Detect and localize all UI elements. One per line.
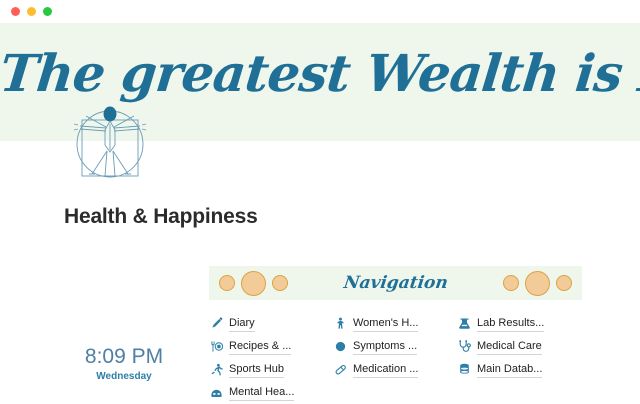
nav-item-label: Main Datab... <box>477 362 542 378</box>
vitruvian-man-icon <box>62 100 158 182</box>
navigation-card: Navigation Diary Recipes & ... <box>209 266 582 404</box>
close-window-button[interactable] <box>11 7 20 16</box>
nav-item-womens-health[interactable]: Women's H... <box>333 312 457 335</box>
nav-item-label: Mental Hea... <box>229 385 294 401</box>
nav-item-mental-health[interactable]: Mental Hea... <box>209 381 333 404</box>
navigation-column: Diary Recipes & ... Sports Hub Mental He… <box>209 312 333 404</box>
pencil-icon <box>209 317 223 331</box>
brain-icon <box>209 386 223 400</box>
nav-item-diary[interactable]: Diary <box>209 312 333 335</box>
navigation-header: Navigation <box>209 266 582 300</box>
navigation-columns: Diary Recipes & ... Sports Hub Mental He… <box>209 300 582 404</box>
person-icon <box>333 317 347 331</box>
nav-item-label: Recipes & ... <box>229 339 291 355</box>
hero-title: The greatest Wealth is Health <box>0 45 640 103</box>
nav-item-label: Sports Hub <box>229 362 284 378</box>
navigation-title: Navigation <box>342 273 449 293</box>
decor-circles-right <box>503 271 572 296</box>
decor-circle-large <box>525 271 550 296</box>
decor-circle-small <box>556 275 572 291</box>
nav-item-lab-results[interactable]: Lab Results... <box>457 312 581 335</box>
nav-item-label: Diary <box>229 316 255 332</box>
nav-item-label: Women's H... <box>353 316 418 332</box>
window-titlebar <box>0 0 640 23</box>
traffic-light-group <box>11 7 52 16</box>
clock-time: 8:09 PM <box>64 345 184 369</box>
nav-item-label: Medication ... <box>353 362 418 378</box>
flask-icon <box>457 317 471 331</box>
circle-icon <box>333 340 347 354</box>
nav-item-medication[interactable]: Medication ... <box>333 358 457 381</box>
nav-item-medical-care[interactable]: Medical Care <box>457 335 581 358</box>
decor-circle-small <box>272 275 288 291</box>
clock-widget: 8:09 PM Wednesday <box>64 345 184 382</box>
decor-circle-small <box>219 275 235 291</box>
food-icon <box>209 340 223 354</box>
nav-item-main-database[interactable]: Main Datab... <box>457 358 581 381</box>
nav-item-symptoms[interactable]: Symptoms ... <box>333 335 457 358</box>
clock-day: Wednesday <box>64 371 184 382</box>
maximize-window-button[interactable] <box>43 7 52 16</box>
nav-item-sports-hub[interactable]: Sports Hub <box>209 358 333 381</box>
stethoscope-icon <box>457 340 471 354</box>
pill-icon <box>333 363 347 377</box>
database-icon <box>457 363 471 377</box>
minimize-window-button[interactable] <box>27 7 36 16</box>
decor-circle-large <box>241 271 266 296</box>
nav-item-label: Symptoms ... <box>353 339 417 355</box>
nav-item-recipes[interactable]: Recipes & ... <box>209 335 333 358</box>
runner-icon <box>209 363 223 377</box>
decor-circles-left <box>219 271 288 296</box>
navigation-column: Women's H... Symptoms ... Medication ... <box>333 312 457 404</box>
page-title: Health & Happiness <box>64 205 258 229</box>
nav-item-label: Medical Care <box>477 339 542 355</box>
decor-circle-small <box>503 275 519 291</box>
navigation-column: Lab Results... Medical Care Main Datab..… <box>457 312 581 404</box>
nav-item-label: Lab Results... <box>477 316 544 332</box>
